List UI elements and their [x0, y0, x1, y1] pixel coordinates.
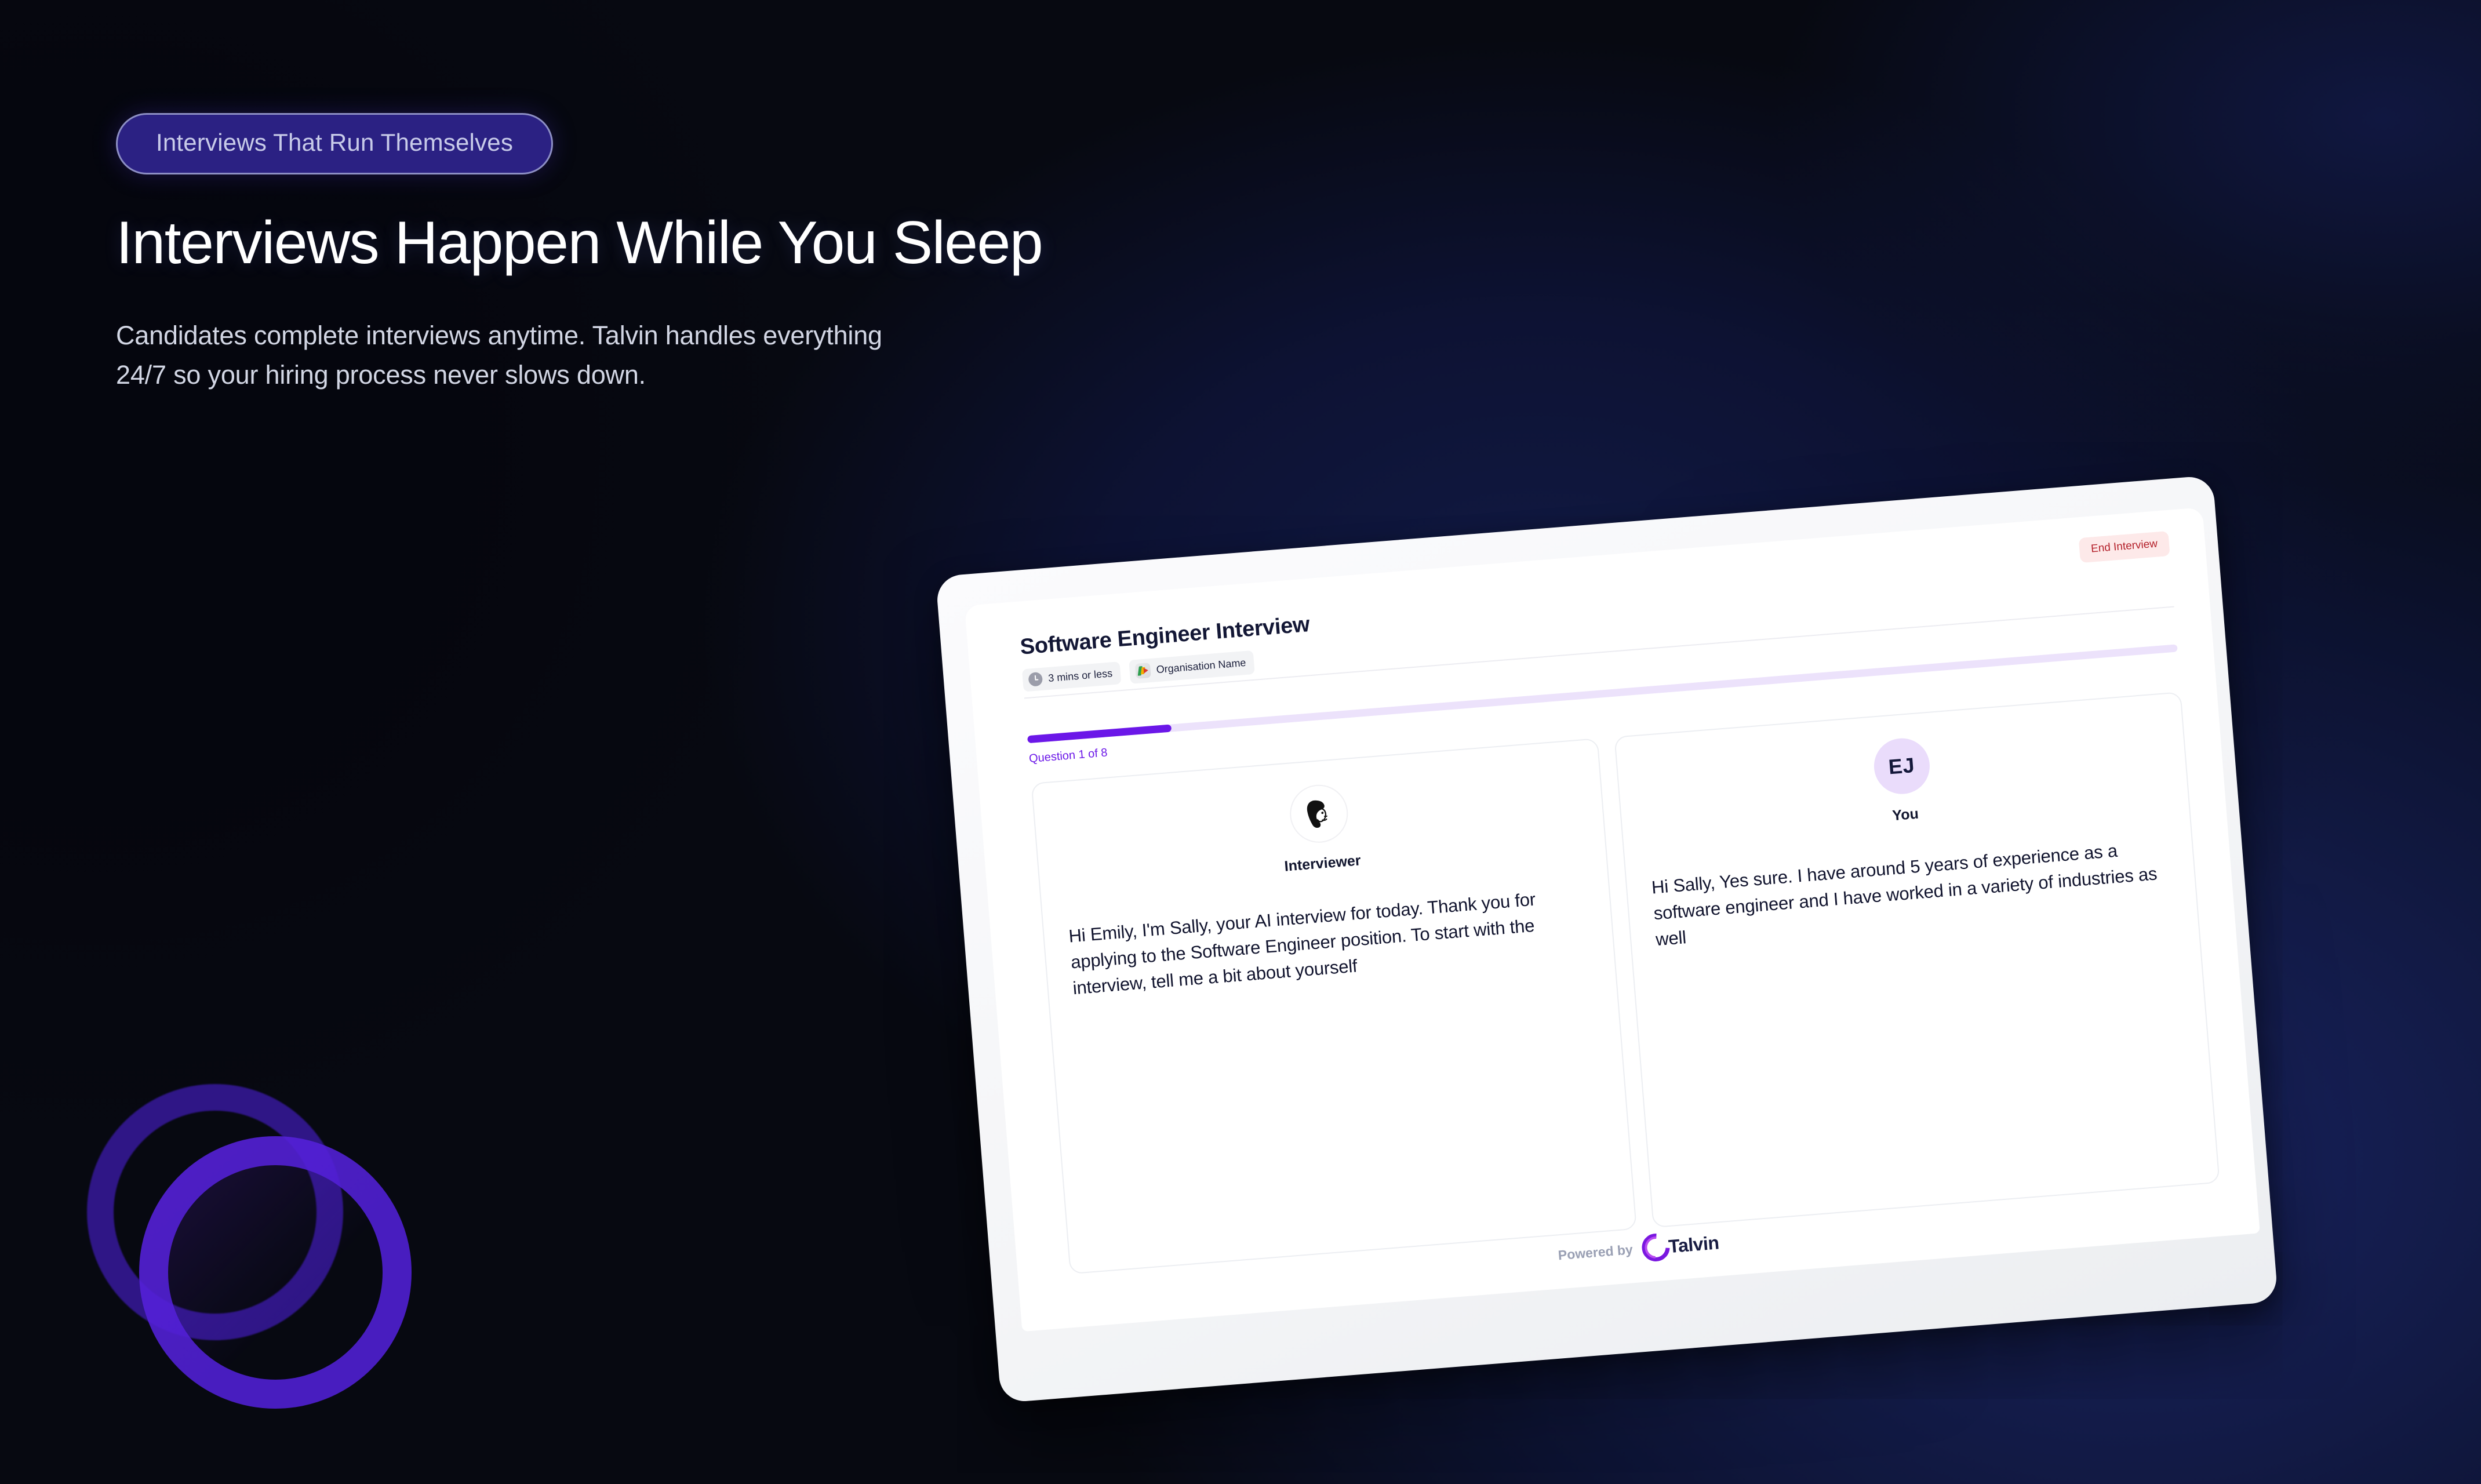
candidate-message-text: Hi Sally, Yes sure. I have around 5 year…	[1650, 834, 2173, 953]
clock-icon	[1028, 672, 1043, 687]
hero-badge: Interviews That Run Themselves	[116, 113, 553, 174]
tablet-mockup: Software Engineer Interview 3 mins or le…	[936, 475, 2278, 1403]
message-card-interviewer: Interviewer Hi Emily, I'm Sally, your AI…	[1031, 738, 1637, 1274]
end-interview-button[interactable]: End Interview	[2079, 531, 2170, 563]
conversation-cards: Interviewer Hi Emily, I'm Sally, your AI…	[1031, 692, 2220, 1274]
hero-subcopy: Candidates complete interviews anytime. …	[116, 316, 1362, 395]
avatar: EJ	[1872, 736, 1931, 796]
decorative-ring-front	[139, 1136, 412, 1409]
duration-chip: 3 mins or less	[1022, 661, 1122, 692]
candidate-role-label: You	[1891, 806, 1919, 825]
hero-headline: Interviews Happen While You Sleep	[116, 210, 1507, 275]
message-card-candidate: EJ You Hi Sally, Yes sure. I have around…	[1614, 692, 2220, 1228]
app-header: Software Engineer Interview 3 mins or le…	[1019, 541, 2177, 731]
decorative-rings	[75, 1078, 400, 1403]
interviewer-message-text: Hi Emily, I'm Sally, your AI interview f…	[1068, 883, 1590, 1002]
interviewer-role-label: Interviewer	[1284, 852, 1362, 875]
hero-subcopy-line-2: 24/7 so your hiring process never slows …	[116, 355, 1362, 395]
talvin-brand-name: Talvin	[1668, 1232, 1720, 1257]
organisation-chip: Organisation Name	[1129, 650, 1255, 684]
hero-subcopy-line-1: Candidates complete interviews anytime. …	[116, 316, 1362, 355]
organisation-logo-icon	[1135, 663, 1151, 679]
interviewer-identity: Interviewer	[1058, 764, 1581, 892]
interviewer-face-icon	[1287, 783, 1350, 845]
candidate-identity: EJ You	[1642, 718, 2164, 843]
hero-copy: Interviews That Run Themselves Interview…	[116, 113, 1507, 395]
page-title: Software Engineer Interview	[1019, 612, 1311, 660]
organisation-chip-label: Organisation Name	[1156, 656, 1246, 675]
powered-by-label: Powered by	[1558, 1242, 1634, 1263]
tablet-frame: Software Engineer Interview 3 mins or le…	[936, 475, 2278, 1403]
tablet-screen: Software Engineer Interview 3 mins or le…	[965, 507, 2260, 1332]
duration-chip-label: 3 mins or less	[1047, 667, 1112, 685]
interview-app: Software Engineer Interview 3 mins or le…	[1019, 541, 2223, 1312]
